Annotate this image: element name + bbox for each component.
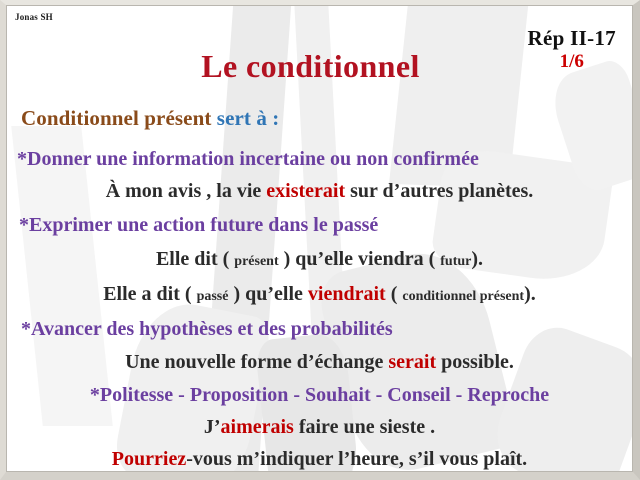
section-subheading: Conditionnel présent sert à : [21,106,279,131]
example-5-post: faire une sieste . [294,416,435,438]
example-2-a: Elle dit ( [156,248,234,270]
subheading-term: Conditionnel présent [21,106,217,130]
example-sentence-3: Elle a dit ( passé ) qu’elle viendrait (… [7,283,632,306]
example-4-pre: Une nouvelle forme d’échange [125,351,388,373]
slide-inner-area: Jonas SH Rép II-17 1/6 Le conditionnel C… [6,5,633,472]
example-5-highlight: aimerais [221,416,294,438]
example-3-b: ) qu’elle [228,283,307,305]
example-sentence-5: J’aimerais faire une sieste . [7,416,632,439]
bullet-item-2: *Exprimer une action future dans le pass… [19,214,632,237]
example-3-c: ( [386,283,403,305]
example-5-pre: J’ [204,416,221,438]
bullet-item-1: *Donner une information incertaine ou no… [17,148,632,171]
example-2-paren-1: présent [234,254,278,269]
example-3-highlight: viendrait [308,283,386,305]
example-6-highlight: Pourriez [112,448,186,470]
page-title: Le conditionnel [7,48,632,85]
example-2-b: ) qu’elle viendra ( [279,248,441,270]
bullet-item-3: *Avancer des hypothèses et des probabili… [21,318,632,341]
example-1-post: sur d’autres planètes. [345,180,533,202]
slide-canvas: Jonas SH Rép II-17 1/6 Le conditionnel C… [0,0,640,480]
example-3-paren-2: conditionnel présent [402,289,524,304]
example-2-c: ). [471,248,483,270]
reference-code: Rép II-17 [528,26,616,50]
example-sentence-4: Une nouvelle forme d’échange serait poss… [7,351,632,374]
example-6-post: -vous m’indiquer l’heure, s’il vous plaî… [186,448,527,470]
example-3-a: Elle a dit ( [103,283,196,305]
example-1-pre: À mon avis , la vie [106,180,267,202]
example-sentence-2: Elle dit ( présent ) qu’elle viendra ( f… [7,248,632,271]
bullet-item-4: *Politesse - Proposition - Souhait - Con… [7,384,632,407]
example-4-post: possible. [436,351,514,373]
example-3-d: ). [524,283,536,305]
example-sentence-6: Pourriez-vous m’indiquer l’heure, s’il v… [7,448,632,471]
example-2-paren-2: futur [440,254,471,269]
subheading-predicate: sert à : [217,106,280,130]
example-1-highlight: existerait [266,180,345,202]
example-3-paren-1: passé [197,289,229,304]
example-sentence-1: À mon avis , la vie existerait sur d’aut… [7,180,632,203]
example-4-highlight: serait [388,351,436,373]
author-byline: Jonas SH [15,12,53,22]
